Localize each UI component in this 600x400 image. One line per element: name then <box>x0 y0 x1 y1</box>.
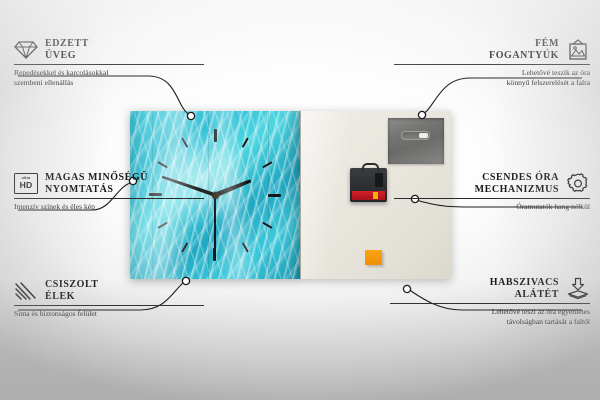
quartz-mechanism <box>350 168 387 202</box>
callout-title-line2: ALÁTÉT <box>490 289 559 301</box>
callout-desc-line1: Sima és biztonságos felület <box>14 309 204 319</box>
callout-tempered-glass: EDZETT ÜVEG Repedésekkel és karcolásokka… <box>14 38 204 87</box>
callout-title-line1: EDZETT <box>45 38 89 50</box>
callout-title-line1: FÉM <box>489 38 559 50</box>
foam-pad <box>365 250 382 265</box>
picture-hanger-icon <box>566 39 590 61</box>
callout-title-line1: CSISZOLT <box>45 279 99 291</box>
callout-rule <box>394 198 590 199</box>
callout-title-line2: MECHANIZMUS <box>475 184 559 196</box>
clock-center-cap <box>212 192 219 199</box>
callout-desc-line2: távolságban tartását a faltól <box>390 317 590 327</box>
callout-desc-line1: Lehetővé teszik az óra <box>394 68 590 78</box>
ultra-hd-icon: ultra HD <box>14 173 38 195</box>
callout-metal-handles: FÉM FOGANTYÚK Lehetővé teszik az óra kön… <box>394 38 590 87</box>
callout-title-line1: HABSZIVACS <box>490 277 559 289</box>
callout-hd-print: ultra HD MAGAS MINŐSÉGŰ NYOMTATÁS Intenz… <box>14 172 204 212</box>
polished-edges-icon <box>14 280 38 302</box>
callout-title-line2: ÜVEG <box>45 50 89 62</box>
callout-title-line1: CSENDES ÓRA <box>475 172 559 184</box>
callout-rule <box>14 64 204 65</box>
callout-rule <box>394 64 590 65</box>
product-infographic: EDZETT ÜVEG Repedésekkel és karcolásokka… <box>0 0 600 400</box>
ultra-hd-icon-large-text: HD <box>20 181 33 190</box>
callout-rule <box>390 303 590 304</box>
diamond-icon <box>14 39 38 61</box>
callout-desc-line1: Intenzív színek és éles kép <box>14 202 204 212</box>
callout-title-line2: ÉLEK <box>45 291 99 303</box>
callout-title-line2: FOGANTYÚK <box>489 50 559 62</box>
callout-silent-mechanism: CSENDES ÓRA MECHANIZMUS Óramutatók hang … <box>394 172 590 212</box>
foam-pad-icon <box>566 278 590 300</box>
clock-second-hand <box>214 195 216 255</box>
gear-icon <box>566 173 590 195</box>
callout-desc-line2: szembeni ellenállás <box>14 78 204 88</box>
callout-title-line1: MAGAS MINŐSÉGŰ <box>45 172 148 184</box>
callout-desc-line2: könnyű felszerelését a falra <box>394 78 590 88</box>
callout-desc-line1: Repedésekkel és karcolásokkal <box>14 68 204 78</box>
callout-rule <box>14 305 204 306</box>
callout-desc-line1: Lehetővé teszi az óra egyenletes <box>390 307 590 317</box>
clock-hour-hand <box>214 178 251 197</box>
callout-foam-pad: HABSZIVACS ALÁTÉT Lehetővé teszi az óra … <box>390 277 590 326</box>
callout-desc-line1: Óramutatók hang nélkül <box>394 202 590 212</box>
metal-hanger <box>388 118 444 164</box>
callout-rule <box>14 198 204 199</box>
callout-title-line2: NYOMTATÁS <box>45 184 148 196</box>
callout-polished-edges: CSISZOLT ÉLEK Sima és biztonságos felüle… <box>14 279 204 319</box>
